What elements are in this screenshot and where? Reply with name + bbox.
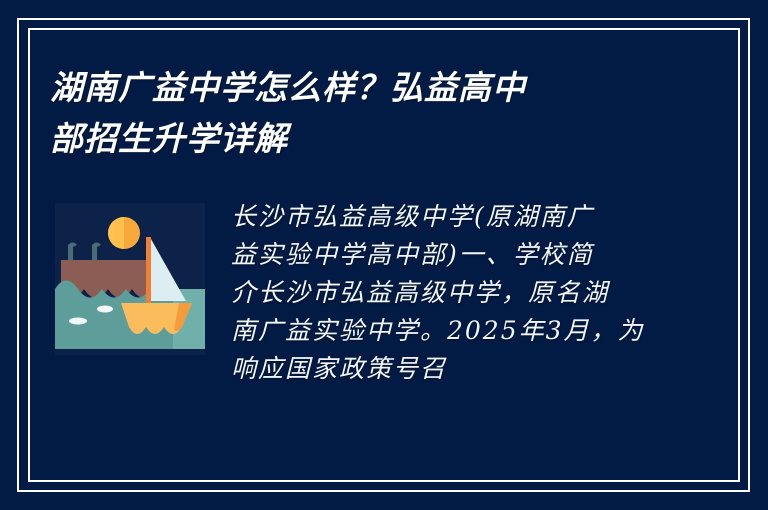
body-copy-line-5: 响应国家政策号召 xyxy=(231,350,671,388)
poster-canvas: 湖南广益中学怎么样？弘益高中 部招生升学详解 xyxy=(0,0,768,510)
sailboat-mast xyxy=(146,237,151,311)
page-title-line-1: 湖南广益中学怎么样？弘益高中 xyxy=(50,62,650,113)
body-copy: 长沙市弘益高级中学(原湖南广 益实验中学高中部)一、学校简 介长沙市弘益高级中学… xyxy=(231,198,671,388)
page-title: 湖南广益中学怎么样？弘益高中 部招生升学详解 xyxy=(50,62,650,164)
illustration-svg xyxy=(55,203,205,355)
body-copy-line-2: 益实验中学高中部)一、学校简 xyxy=(231,236,671,274)
body-copy-line-4: 南广益实验中学。2025年3月，为 xyxy=(231,312,671,350)
body-copy-line-1: 长沙市弘益高级中学(原湖南广 xyxy=(231,198,671,236)
page-title-line-2: 部招生升学详解 xyxy=(50,113,650,164)
body-copy-line-3: 介长沙市弘益高级中学，原名湖 xyxy=(231,274,671,312)
sailboat-harbor-illustration xyxy=(55,203,205,355)
water-highlight-2 xyxy=(97,306,113,313)
water-highlight-1 xyxy=(69,318,87,325)
